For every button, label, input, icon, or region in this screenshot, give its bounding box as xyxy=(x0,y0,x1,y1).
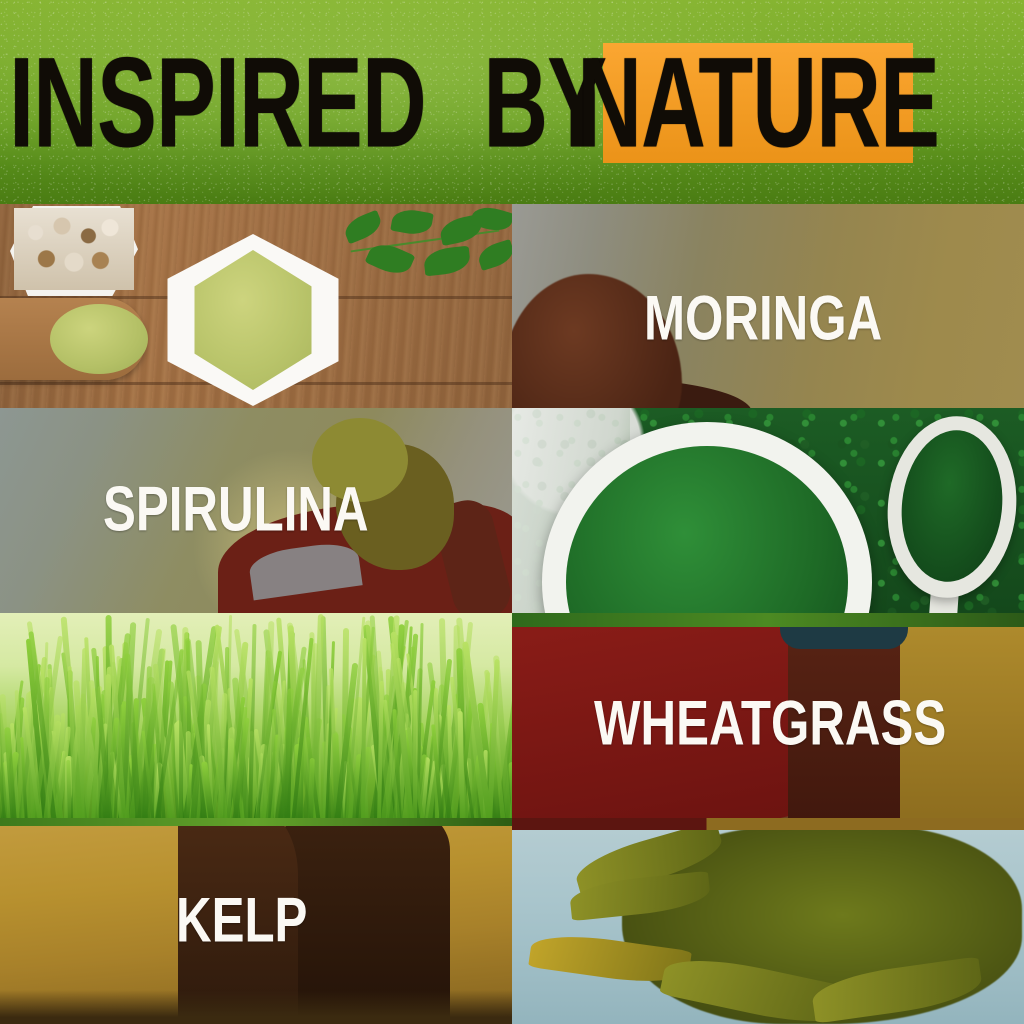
label-spirulina: SPIRULINA xyxy=(103,478,369,541)
wheatgrass-blades xyxy=(0,613,512,818)
headline-word-inspired: INSPIRED xyxy=(9,39,426,167)
headline-word-nature-wrap: NATURE xyxy=(603,36,913,170)
cell-wheatgrass-photo[interactable] xyxy=(0,613,512,818)
label-kelp: KELP xyxy=(176,889,307,952)
label-moringa: MORINGA xyxy=(644,287,882,350)
moringa-seeds xyxy=(14,208,134,290)
cell-kelp-label[interactable]: KELP xyxy=(0,818,512,1024)
cell-kelp-photo[interactable] xyxy=(512,818,1024,1024)
ingredient-grid: MORINGA SPIRULINA xyxy=(0,204,1024,1024)
top-green-strip xyxy=(512,613,1024,627)
cell-spirulina-photo[interactable] xyxy=(512,408,1024,613)
headline-word-nature: NATURE xyxy=(577,39,939,167)
top-strip xyxy=(512,818,1024,830)
poster-canvas: INSPIRED BY NATURE NATURE xyxy=(0,0,1024,1024)
top-green-strip xyxy=(0,818,512,826)
label-wheatgrass: WHEATGRASS xyxy=(594,692,946,755)
header-banner: INSPIRED BY NATURE NATURE xyxy=(0,0,1024,204)
cell-wheatgrass-label[interactable]: WHEATGRASS xyxy=(512,613,1024,818)
cell-moringa-photo[interactable] xyxy=(0,204,512,408)
moringa-powder-in-spoon xyxy=(50,304,148,374)
cell-moringa-label[interactable]: MORINGA xyxy=(512,204,1024,408)
foreground-grass xyxy=(0,990,512,1024)
cell-spirulina-label[interactable]: SPIRULINA xyxy=(0,408,512,613)
